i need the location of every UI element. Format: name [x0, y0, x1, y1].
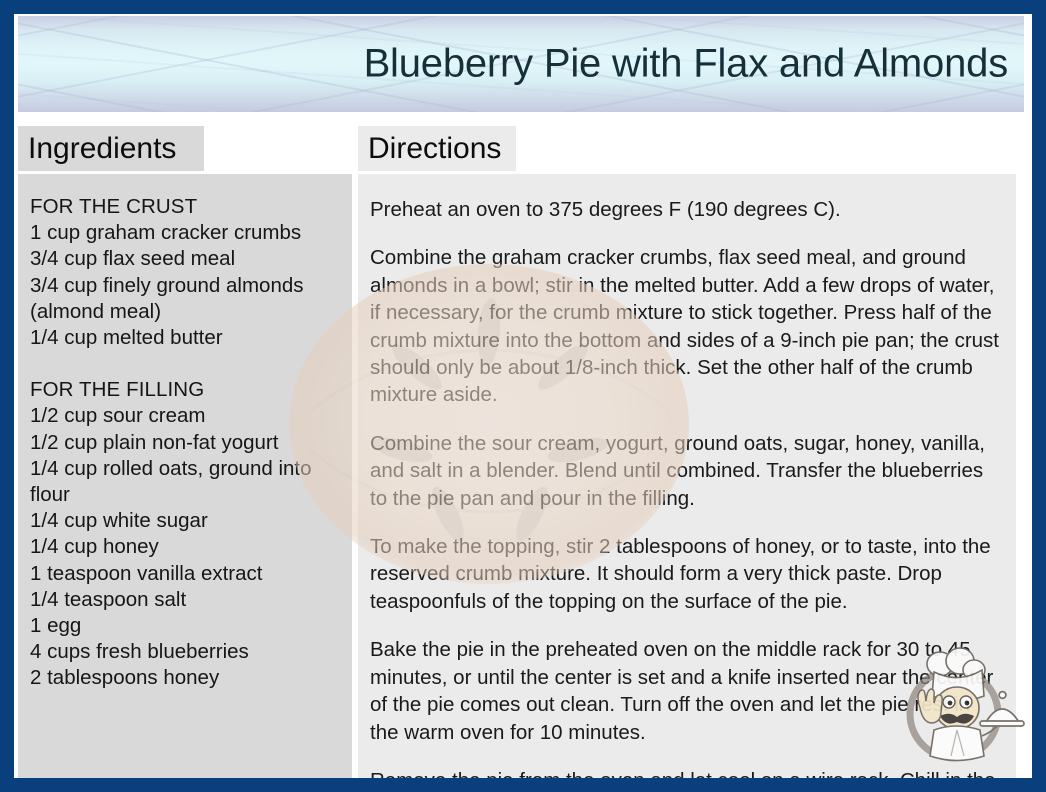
direction-step: To make the topping, stir 2 tablespoons …: [370, 533, 1004, 615]
list-item: 2 tablespoons honey: [30, 665, 340, 691]
ingredient-group-title: FOR THE FILLING: [30, 377, 340, 403]
list-item: 1 teaspoon vanilla extract: [30, 561, 340, 587]
direction-step: Preheat an oven to 375 degrees F (190 de…: [370, 196, 1004, 223]
card-inner-surface: Blueberry Pie with Flax and Almonds: [14, 14, 1032, 778]
ingredient-group-title: FOR THE CRUST: [30, 194, 340, 220]
list-item: 1/2 cup plain non-fat yogurt: [30, 430, 340, 456]
ingredients-panel: FOR THE CRUST 1 cup graham cracker crumb…: [18, 174, 352, 778]
direction-step: Combine the graham cracker crumbs, flax …: [370, 244, 1004, 408]
list-item: 1/4 cup melted butter: [30, 325, 340, 351]
list-item: 1/4 cup honey: [30, 534, 340, 560]
list-item: 1/4 cup rolled oats, ground into flour: [30, 456, 340, 508]
directions-list: Preheat an oven to 375 degrees F (190 de…: [370, 196, 1004, 778]
list-item: 1/2 cup sour cream: [30, 403, 340, 429]
direction-step: Bake the pie in the preheated oven on th…: [370, 636, 1004, 746]
list-item: 1/4 cup white sugar: [30, 508, 340, 534]
ingredients-heading: Ingredients: [18, 126, 204, 171]
recipe-card: Blueberry Pie with Flax and Almonds: [0, 0, 1046, 792]
direction-step: Remove the pie from the oven and let coo…: [370, 767, 1004, 778]
list-item: 1/4 teaspoon salt: [30, 587, 340, 613]
title-banner: Blueberry Pie with Flax and Almonds: [18, 16, 1024, 112]
list-item: 1 egg: [30, 613, 340, 639]
ingredients-list: FOR THE CRUST 1 cup graham cracker crumb…: [30, 194, 340, 692]
list-spacer: [30, 351, 340, 377]
list-item: 3/4 cup finely ground almonds (almond me…: [30, 273, 340, 325]
direction-step: Combine the sour cream, yogurt, ground o…: [370, 430, 1004, 512]
directions-heading: Directions: [358, 126, 516, 171]
list-item: 3/4 cup flax seed meal: [30, 246, 340, 272]
list-item: 4 cups fresh blueberries: [30, 639, 340, 665]
directions-panel: Preheat an oven to 375 degrees F (190 de…: [358, 174, 1016, 778]
page-title: Blueberry Pie with Flax and Almonds: [364, 42, 1008, 87]
list-item: 1 cup graham cracker crumbs: [30, 220, 340, 246]
